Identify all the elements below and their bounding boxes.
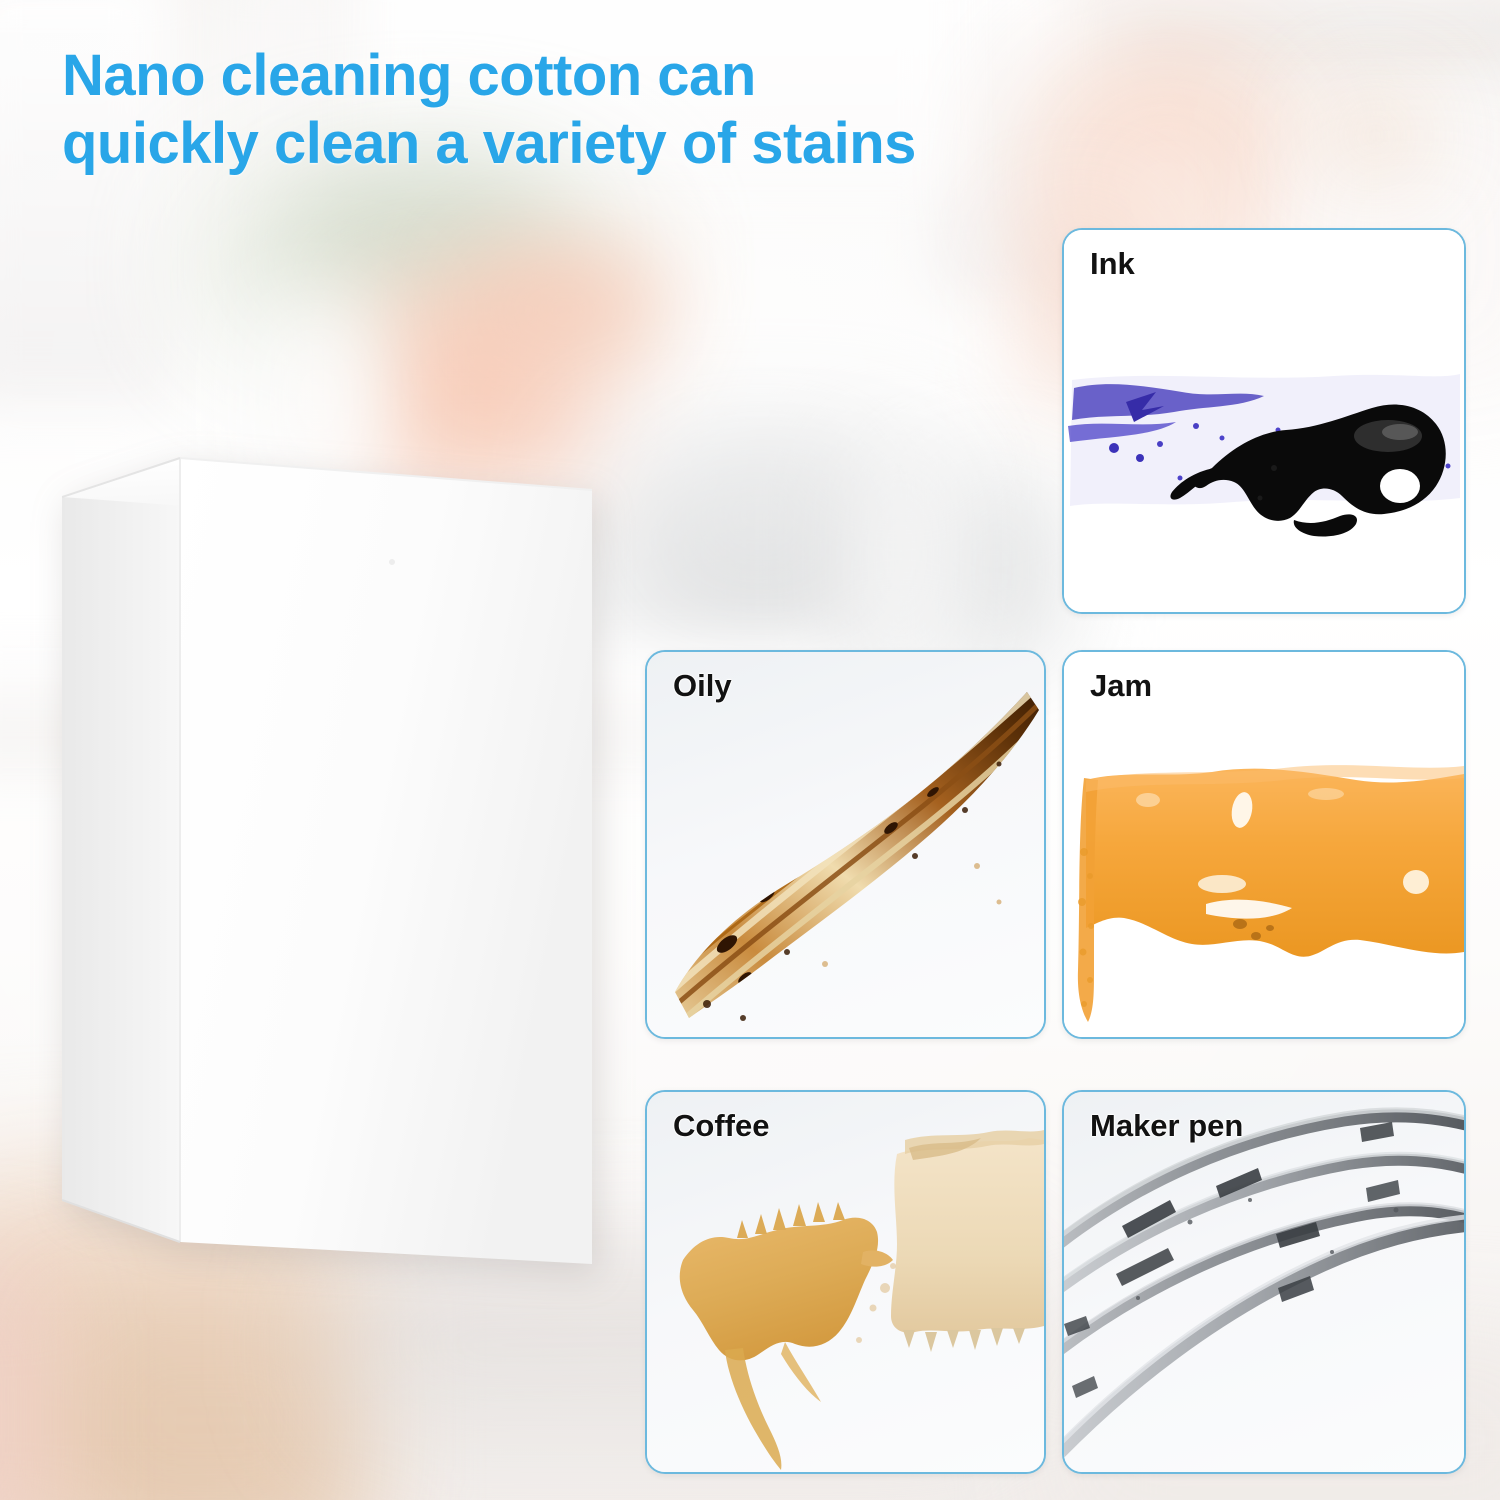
card-label-ink: Ink bbox=[1090, 246, 1135, 282]
stain-card-maker-pen[interactable]: Maker pen bbox=[1062, 1090, 1466, 1474]
card-label-coffee: Coffee bbox=[673, 1108, 769, 1144]
stain-card-jam[interactable]: Jam bbox=[1062, 650, 1466, 1039]
coffee-stain-artwork bbox=[647, 1092, 1044, 1472]
maker-pen-stain-artwork bbox=[1064, 1092, 1464, 1472]
stain-card-ink[interactable]: Ink bbox=[1062, 228, 1466, 614]
sponge-front-face bbox=[180, 458, 592, 1264]
stain-card-oily[interactable]: Oily bbox=[645, 650, 1046, 1039]
sponge-block-product-image bbox=[62, 452, 592, 1292]
stain-card-coffee[interactable]: Coffee bbox=[645, 1090, 1046, 1474]
page-title: Nano cleaning cotton can quickly clean a… bbox=[62, 42, 1182, 178]
card-label-maker-pen: Maker pen bbox=[1090, 1108, 1243, 1144]
sponge-left-face bbox=[62, 458, 180, 1242]
ink-stain-artwork bbox=[1064, 230, 1464, 612]
product-infographic: Nano cleaning cotton can quickly clean a… bbox=[0, 0, 1500, 1500]
jam-stain-artwork bbox=[1064, 652, 1464, 1037]
card-label-oily: Oily bbox=[673, 668, 732, 704]
card-label-jam: Jam bbox=[1090, 668, 1152, 704]
oily-stain-artwork bbox=[647, 652, 1044, 1037]
